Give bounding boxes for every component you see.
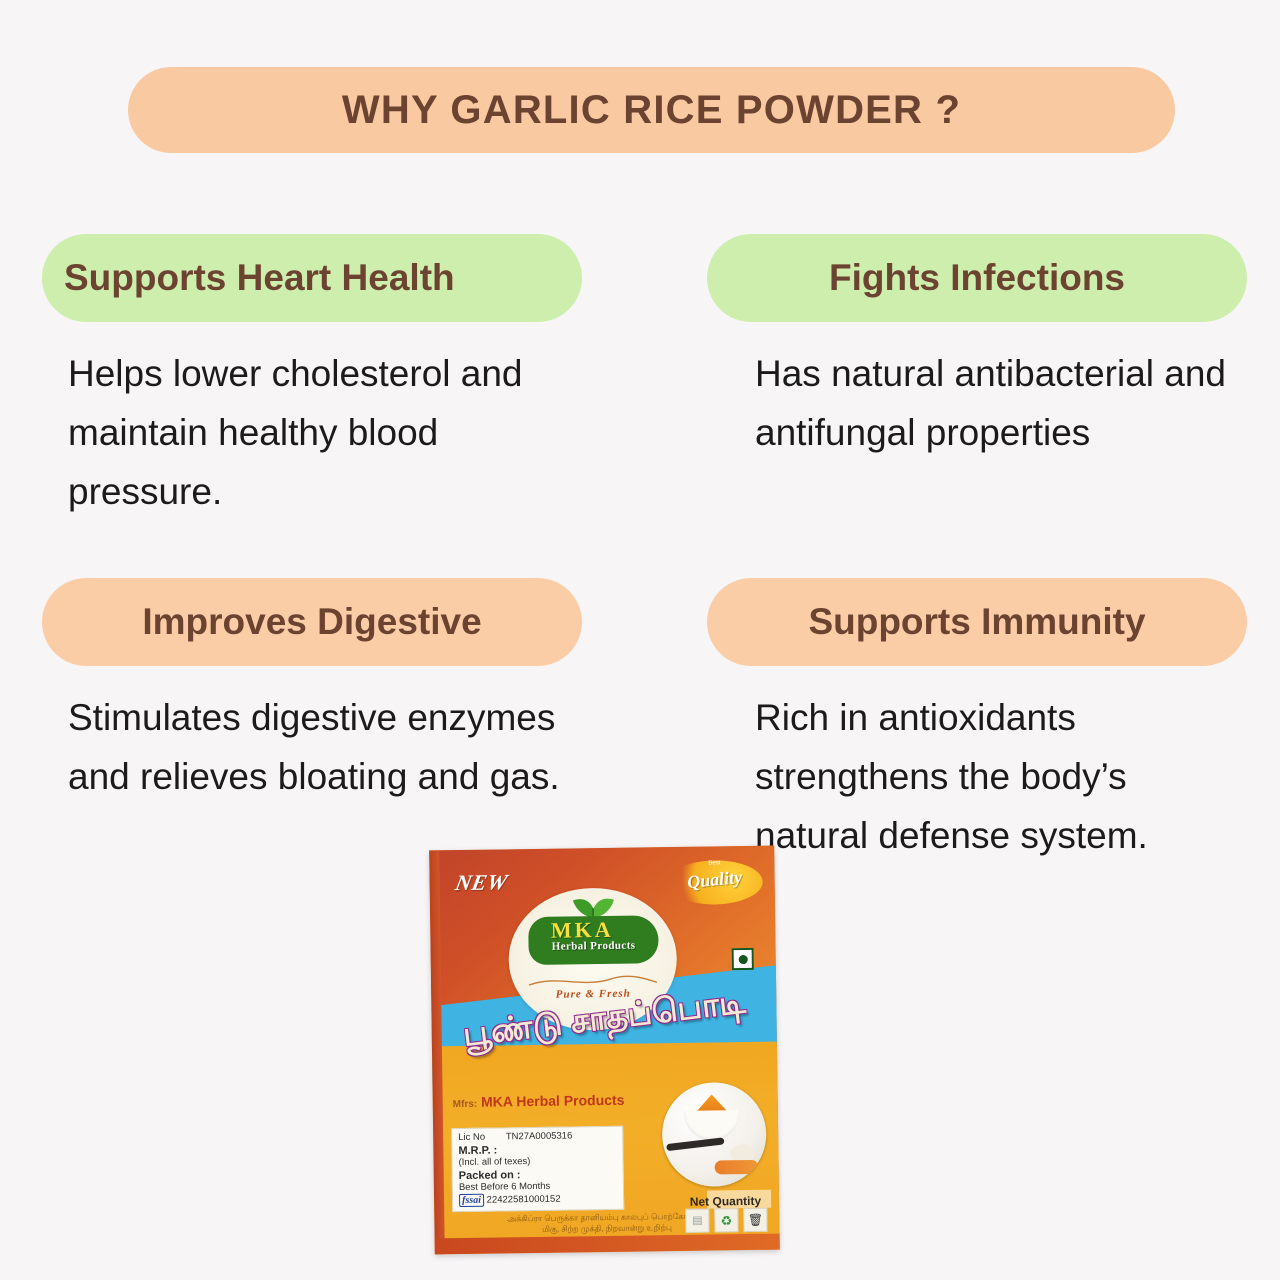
packet-info-label: Lic No TN27A0005316 M.R.P. : (Incl. all … — [451, 1126, 624, 1212]
packet-artwork: NEW Best Quality MKA Herbal Products — [429, 846, 780, 1255]
new-flash-label: NEW — [453, 869, 510, 896]
lic-no-label: Lic No — [458, 1132, 485, 1143]
dispose-in-bin-icon: 🗑 — [743, 1208, 767, 1232]
benefit-body-text: Has natural antibacterial and antifungal… — [707, 344, 1247, 462]
benefit-title-label: Supports Immunity — [808, 601, 1145, 643]
benefit-body-text: Helps lower cholesterol and maintain hea… — [42, 344, 582, 521]
packet-icon-row: ▤ ♻ 🗑 — [685, 1208, 767, 1233]
manufacturer-line: Mfrs: MKA Herbal Products — [453, 1092, 625, 1110]
product-serving-photo — [661, 1082, 766, 1187]
benefit-card-improves-digestive: Improves Digestive Stimulates digestive … — [42, 578, 582, 806]
benefit-title-label: Fights Infections — [829, 257, 1125, 299]
fssai-row: fssai 22422581000152 — [459, 1192, 617, 1207]
benefit-title-pill: Improves Digestive — [42, 578, 582, 666]
benefit-title-label: Improves Digestive — [142, 601, 481, 643]
benefit-title-pill: Supports Heart Health — [42, 234, 582, 322]
brand-tagline: Herbal Products — [528, 939, 658, 953]
spice-spill-shape — [715, 1160, 759, 1175]
infographic-page: WHY GARLIC RICE POWDER ? Supports Heart … — [0, 0, 1280, 1280]
product-packet-photo: NEW Best Quality MKA Herbal Products — [429, 846, 780, 1255]
veg-mark-icon — [732, 948, 754, 970]
net-quantity-label: Net Quantity — [690, 1194, 762, 1209]
manufacturer-label: Mfrs: — [453, 1099, 478, 1110]
quality-badge: Best Quality — [666, 860, 763, 905]
fssai-number: 22422581000152 — [487, 1193, 561, 1205]
benefit-body-text: Stimulates digestive enzymes and relieve… — [42, 688, 582, 806]
benefit-card-supports-heart-health: Supports Heart Health Helps lower choles… — [42, 234, 582, 521]
bowl-shape — [684, 1110, 740, 1141]
recycle-icon: ♻ — [714, 1208, 738, 1232]
manufacturer-name: MKA Herbal Products — [481, 1092, 625, 1110]
spoon-shape — [666, 1137, 724, 1151]
benefit-title-label: Supports Heart Health — [64, 257, 455, 299]
lic-no-value: TN27A0005316 — [506, 1130, 573, 1142]
benefit-body-text: Rich in antioxidants strengthens the bod… — [707, 688, 1247, 865]
label-mark-icon: ▤ — [685, 1209, 709, 1233]
benefit-card-supports-immunity: Supports Immunity Rich in antioxidants s… — [707, 578, 1247, 865]
benefit-title-pill: Supports Immunity — [707, 578, 1247, 666]
fssai-logo-icon: fssai — [459, 1193, 484, 1206]
veg-mark-dot — [738, 954, 747, 963]
benefit-card-fights-infections: Fights Infections Has natural antibacter… — [707, 234, 1247, 462]
brand-logo-badge: MKA Herbal Products — [528, 915, 659, 965]
benefit-title-pill: Fights Infections — [707, 234, 1247, 322]
